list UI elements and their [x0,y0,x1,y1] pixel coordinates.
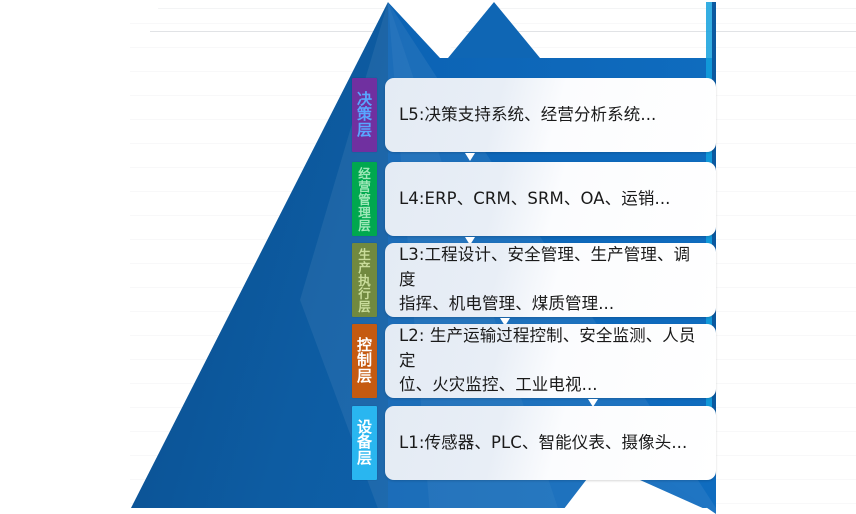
level-rows: 决策层 L5:决策支持系统、经营分析系统... 经营管理层 L4:ERP、CRM… [0,0,856,514]
level-tab-l1-char-2: 层 [357,451,372,467]
level-text-l5: L5:决策支持系统、经营分析系统... [399,102,656,127]
level-text-l4: L4:ERP、CRM、SRM、OA、运销... [399,186,671,211]
level-tab-l5[interactable]: 决策层 [352,78,377,152]
level-tab-l4-char-4: 层 [358,219,371,232]
level-tab-l3-char-2: 执 [358,274,371,287]
level-text-l3-line2: 指挥、机电管理、煤质管理... [399,292,702,317]
level-tab-l3-char-4: 层 [358,300,371,313]
level-card-l5[interactable]: L5:决策支持系统、经营分析系统... [385,78,716,152]
level-tab-l5-char-2: 层 [357,123,372,139]
level-tab-l1[interactable]: 设备层 [352,406,377,480]
level-tab-l2-char-2: 层 [357,369,372,385]
level-text-l2: L2: 生产运输过程控制、安全监测、人员定 位、火灾监控、工业电视... [399,324,702,398]
level-tab-l4-char-3: 理 [358,206,371,219]
diagram-canvas: 决策层 L5:决策支持系统、经营分析系统... 经营管理层 L4:ERP、CRM… [0,0,856,514]
level-card-l1[interactable]: L1:传感器、PLC、智能仪表、摄像头... [385,406,716,480]
level-tab-l4-char-2: 管 [358,193,371,206]
level-card-l4[interactable]: L4:ERP、CRM、SRM、OA、运销... [385,162,716,236]
level-text-l1: L1:传感器、PLC、智能仪表、摄像头... [399,430,687,455]
level-text-l2-line1: L2: 生产运输过程控制、安全监测、人员定 [399,324,702,374]
level-tab-l4[interactable]: 经营管理层 [352,162,377,236]
level-tab-l2[interactable]: 控制层 [352,324,377,398]
gap-arrow-l5 [465,153,475,161]
level-tab-l3-char-0: 生 [358,248,371,261]
level-text-l2-line2: 位、火灾监控、工业电视... [399,373,702,398]
level-card-l3[interactable]: L3:工程设计、安全管理、生产管理、调度 指挥、机电管理、煤质管理... [385,243,716,317]
level-tab-l3-char-3: 行 [358,287,371,300]
level-card-l2[interactable]: L2: 生产运输过程控制、安全监测、人员定 位、火灾监控、工业电视... [385,324,716,398]
level-tab-l4-char-1: 营 [358,180,371,193]
level-text-l3: L3:工程设计、安全管理、生产管理、调度 指挥、机电管理、煤质管理... [399,243,702,317]
level-tab-l4-char-0: 经 [358,167,371,180]
level-tab-l3[interactable]: 生产执行层 [352,243,377,317]
level-text-l3-line1: L3:工程设计、安全管理、生产管理、调度 [399,243,702,293]
level-tab-l3-char-1: 产 [358,261,371,274]
